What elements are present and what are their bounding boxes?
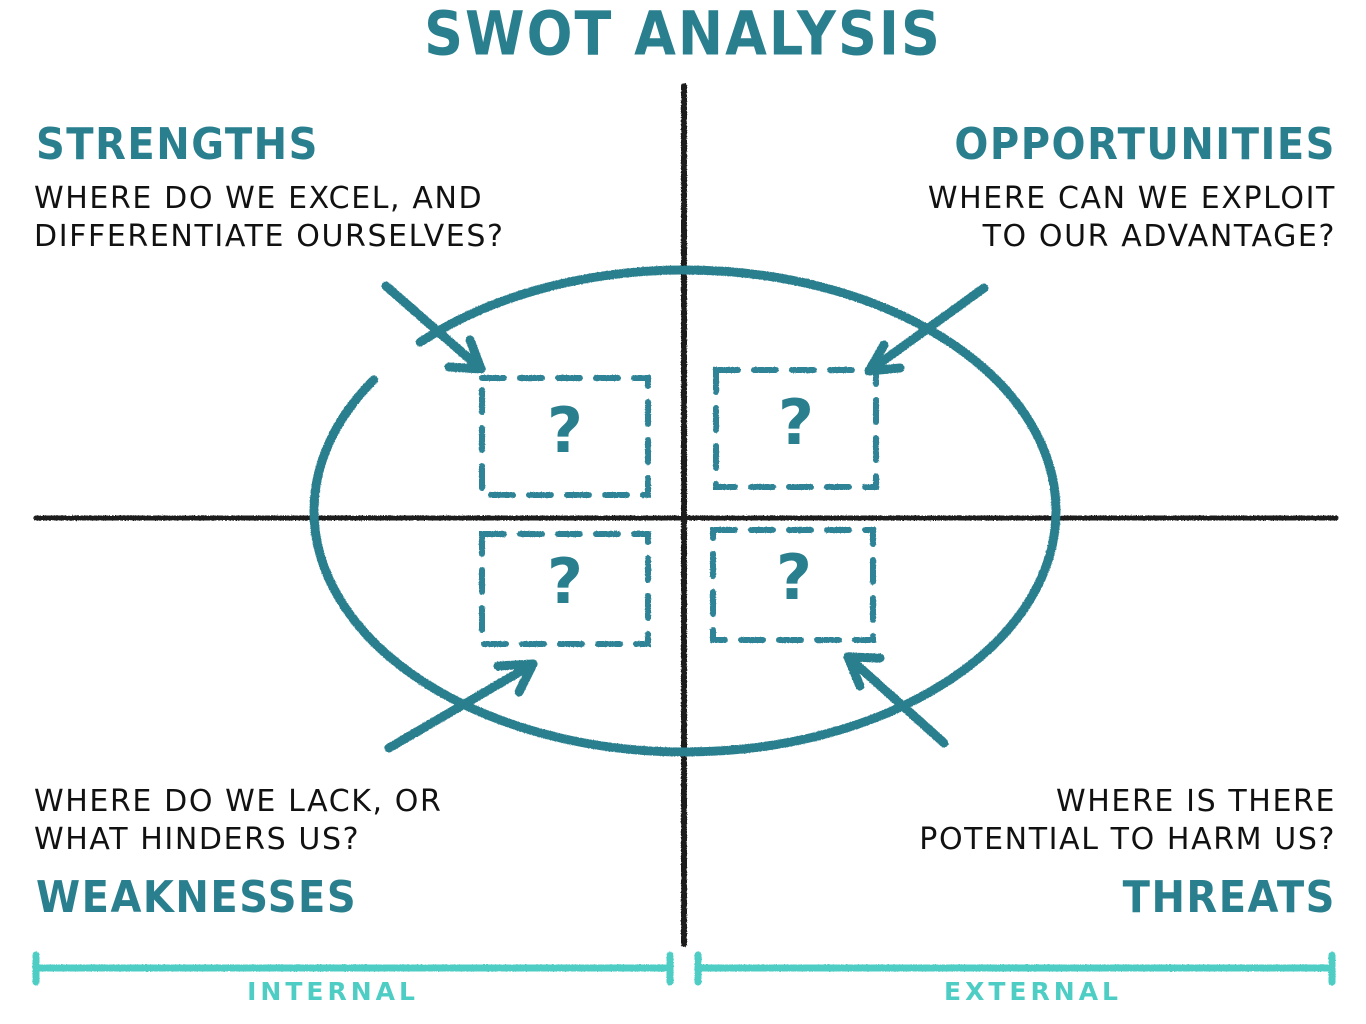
quadrant-heading-strengths: STRENGTHS <box>36 122 319 170</box>
placeholder-question-mark-strengths: ? <box>535 400 595 462</box>
scope-label-external: EXTERNAL <box>700 978 1366 1005</box>
quadrant-heading-weaknesses: WEAKNESSES <box>36 875 357 923</box>
quadrant-description-threats: WHERE IS THERE POTENTIAL TO HARM US? <box>919 783 1336 860</box>
scope-label-internal: INTERNAL <box>0 978 666 1005</box>
arrow-to-strengths <box>386 286 481 369</box>
arrow-to-threats <box>848 657 944 743</box>
swot-diagram: SWOT ANALYSIS STRENGTHS WHERE DO WE EXCE… <box>0 0 1366 1024</box>
page-title: SWOT ANALYSIS <box>0 2 1366 67</box>
quadrant-description-opportunities: WHERE CAN WE EXPLOIT TO OUR ADVANTAGE? <box>928 180 1336 257</box>
quadrant-description-strengths: WHERE DO WE EXCEL, AND DIFFERENTIATE OUR… <box>34 180 505 257</box>
quadrant-description-weaknesses: WHERE DO WE LACK, OR WHAT HINDERS US? <box>34 783 442 860</box>
placeholder-question-mark-weaknesses: ? <box>535 551 595 613</box>
placeholder-question-mark-opportunities: ? <box>766 392 826 454</box>
quadrant-heading-threats: THREATS <box>1123 875 1336 923</box>
quadrant-heading-opportunities: OPPORTUNITIES <box>954 122 1336 170</box>
placeholder-question-mark-threats: ? <box>764 547 824 609</box>
